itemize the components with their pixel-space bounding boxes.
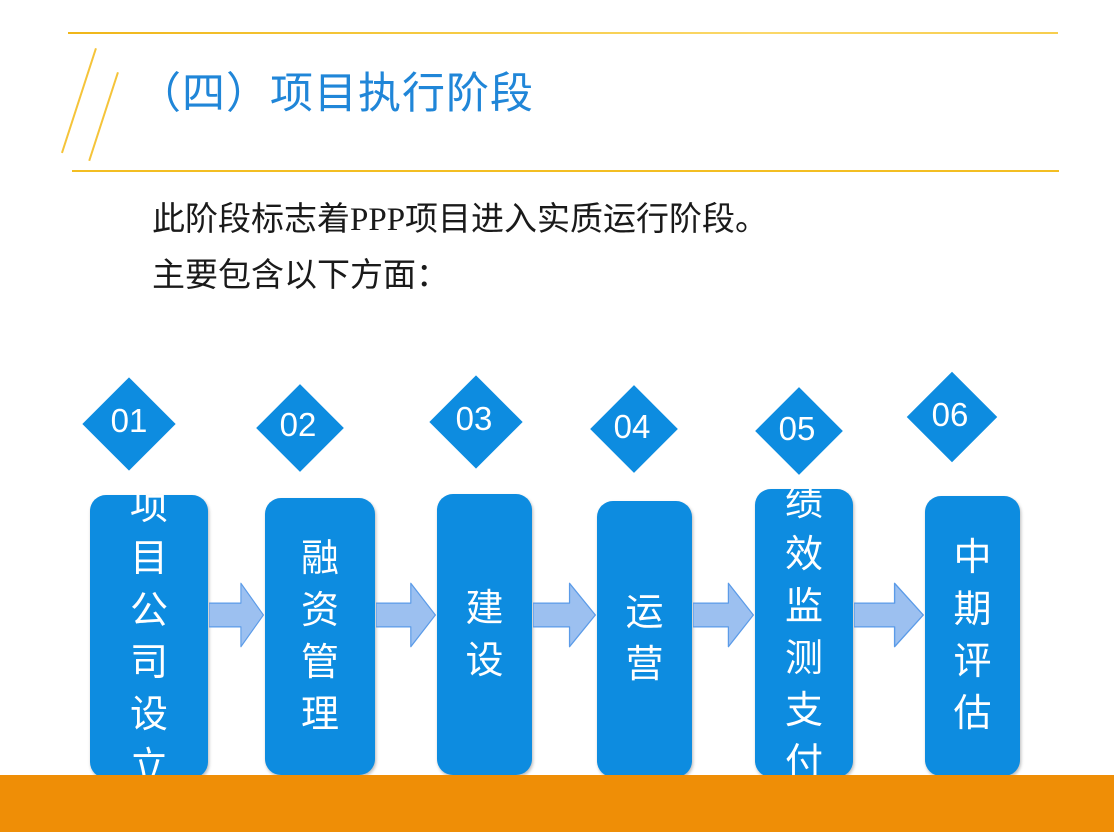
step-number-label: 04 bbox=[601, 410, 663, 443]
process-step-label-char: 司 bbox=[130, 637, 168, 689]
process-step-label-char: 资 bbox=[301, 585, 339, 637]
process-step-label-char: 测 bbox=[785, 633, 823, 685]
step-number-label: 05 bbox=[766, 412, 828, 445]
process-step-label: 建设 bbox=[437, 583, 532, 687]
process-step-label-char: 设 bbox=[130, 689, 168, 741]
process-step-label-char: 效 bbox=[785, 529, 823, 581]
process-step-label: 项目公司设立 bbox=[90, 481, 208, 793]
slide-canvas: （四）项目执行阶段 此阶段标志着PPP项目进入实质运行阶段。 主要包含以下方面：… bbox=[0, 0, 1114, 836]
process-step-label-char: 监 bbox=[785, 581, 823, 633]
step-number-label: 03 bbox=[441, 402, 507, 435]
step-number-label: 02 bbox=[267, 408, 329, 441]
process-step-label-char: 融 bbox=[301, 533, 339, 585]
process-step-label-char: 设 bbox=[465, 635, 503, 687]
process-step-label-char: 评 bbox=[953, 636, 991, 688]
process-step-label-char: 绩 bbox=[785, 477, 823, 529]
process-step-label-char: 目 bbox=[130, 533, 168, 585]
process-step-label-char: 运 bbox=[625, 587, 663, 639]
process-step-label-char: 管 bbox=[301, 637, 339, 689]
process-flow-diagram: 01项目公司设立02融资管理03建设04运营05绩效监测支付06中期评估 bbox=[0, 0, 1114, 836]
process-step-label-char: 公 bbox=[130, 585, 168, 637]
process-step-label-char: 支 bbox=[785, 685, 823, 737]
flow-arrow-icon bbox=[376, 582, 436, 648]
process-step-label: 中期评估 bbox=[925, 532, 1020, 740]
flow-arrow-icon bbox=[209, 582, 264, 648]
footer-accent-bar bbox=[0, 775, 1114, 832]
flow-arrow-icon bbox=[693, 582, 754, 648]
process-step-label-char: 建 bbox=[465, 583, 503, 635]
process-step-label-char: 期 bbox=[953, 584, 991, 636]
process-step-label-char: 理 bbox=[301, 689, 339, 741]
flow-arrow-icon bbox=[854, 582, 924, 648]
process-step-label: 绩效监测支付 bbox=[755, 477, 853, 789]
flow-arrow-icon bbox=[533, 582, 596, 648]
step-number-label: 01 bbox=[96, 404, 162, 437]
footer-edge bbox=[0, 832, 1114, 836]
process-step-label-char: 估 bbox=[953, 688, 991, 740]
process-step-label: 运营 bbox=[597, 587, 692, 691]
process-step-label-char: 项 bbox=[130, 481, 168, 533]
step-number-label: 06 bbox=[918, 398, 982, 431]
process-step-label-char: 营 bbox=[625, 639, 663, 691]
process-step-label-char: 中 bbox=[953, 532, 991, 584]
process-step-label: 融资管理 bbox=[265, 533, 375, 741]
